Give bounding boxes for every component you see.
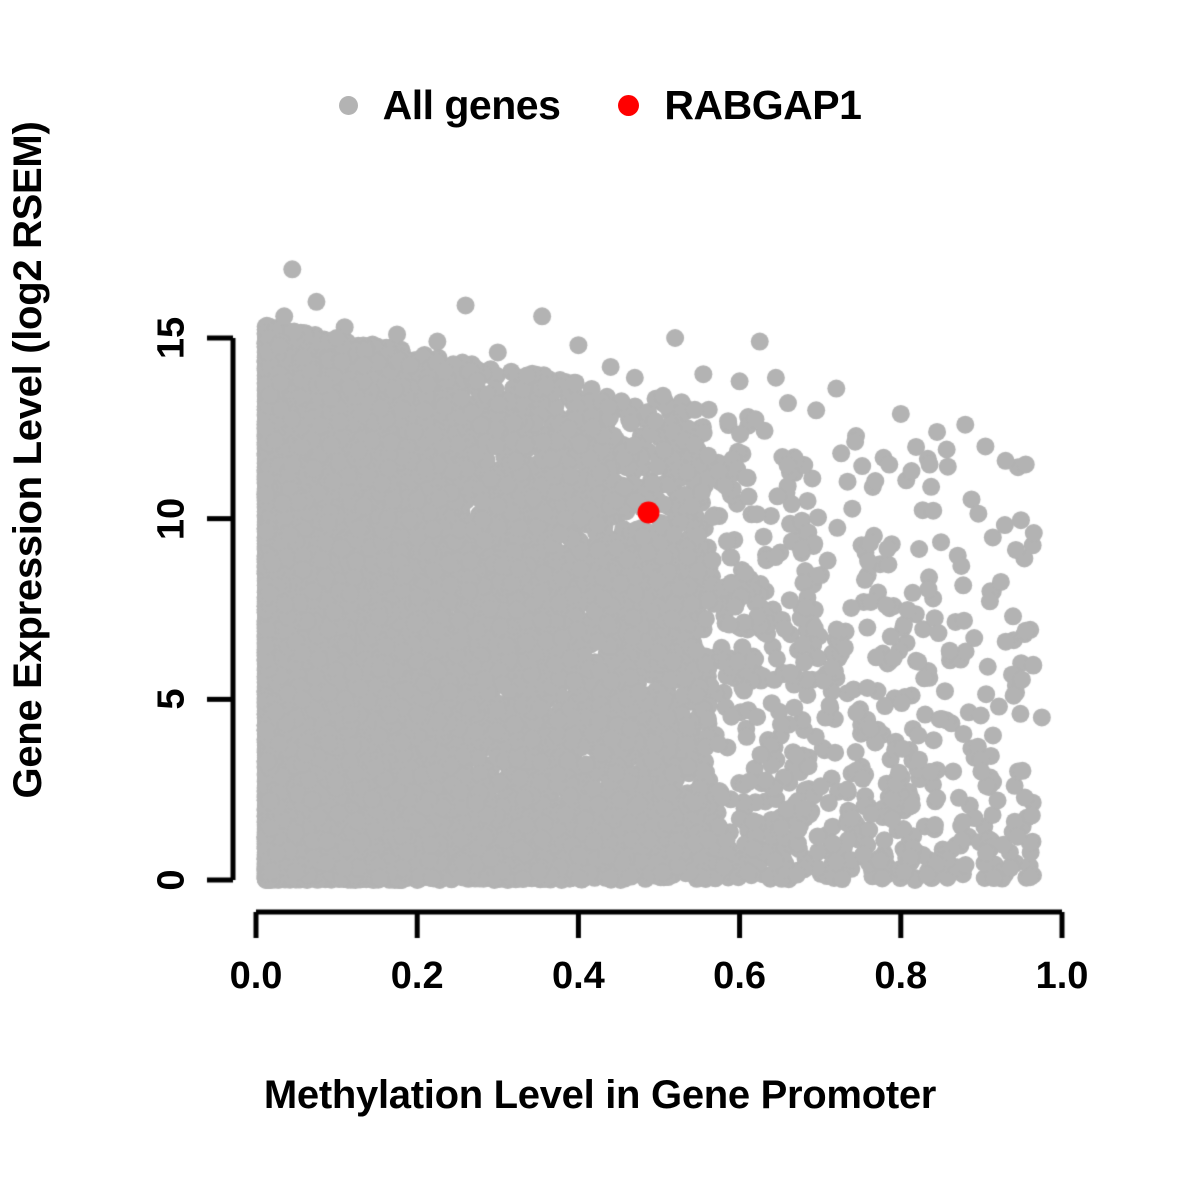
scatter-plot-figure: All genes RABGAP1 Methylation Level in G… (0, 0, 1200, 1200)
scatter-plot-canvas (0, 0, 1200, 1200)
